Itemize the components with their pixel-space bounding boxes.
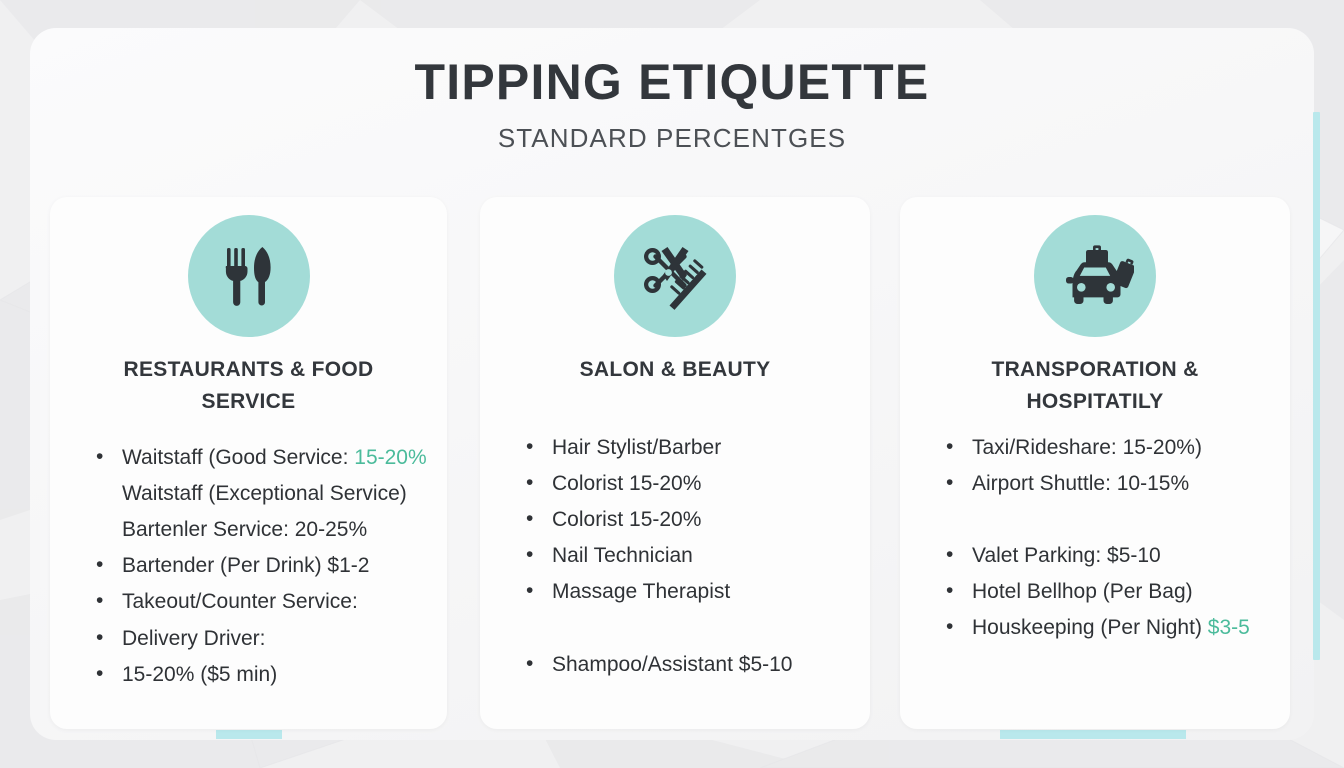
list-transportation: Taxi/Rideshare: 15-20%)Airport Shuttle: … [934, 430, 1330, 647]
list-item: Colorist 15-20% [514, 502, 910, 538]
list-item-label: Taxi/Rideshare: 15-20%) [972, 436, 1202, 459]
taxi-luggage-icon [1056, 240, 1134, 312]
icon-circle-restaurants [188, 215, 310, 337]
list-item: Hotel Bellhop (Per Bag) [934, 574, 1330, 610]
icon-circle-transportation [1034, 215, 1156, 337]
list-item-label: Colorist 15-20% [552, 472, 701, 495]
list-item: Colorist 15-20% [514, 466, 910, 502]
list-item: Waitstaff (Good Service: 15-20% [84, 440, 487, 476]
list-item-label: Waitstaff (Good Service: [122, 446, 354, 469]
list-item-label: Massage Therapist [552, 580, 730, 603]
list-item: Shampoo/Assistant $5-10 [514, 647, 910, 683]
list-item-label: Valet Parking: $5-10 [972, 544, 1161, 567]
card-restaurants-food-service[interactable]: RESTAURANTS & FOOD SERVICE Waitstaff (Go… [50, 197, 447, 729]
card-heading-salon: SALON & BEAUTY [506, 354, 844, 386]
accent-bar-under-card-3 [1000, 730, 1186, 739]
list-item-label: Delivery Driver: [122, 627, 266, 650]
list-item: Taxi/Rideshare: 15-20%) [934, 430, 1330, 466]
list-item-label: Nail Technician [552, 544, 693, 567]
list-salon: Hair Stylist/BarberColorist 15-20%Colori… [514, 430, 910, 683]
list-item-label: Bartender (Per Drink) $1-2 [122, 554, 369, 577]
list-item: Waitstaff (Exceptional Service) [84, 476, 487, 512]
page-title: TIPPING ETIQUETTE [0, 56, 1344, 109]
list-item: Takeout/Counter Service: [84, 584, 487, 620]
list-item-label: Hotel Bellhop (Per Bag) [972, 580, 1193, 603]
list-item: Nail Technician [514, 538, 910, 574]
list-item: 15-20% ($5 min) [84, 657, 487, 693]
list-item-label: Colorist 15-20% [552, 508, 701, 531]
card-heading-restaurants: RESTAURANTS & FOOD SERVICE [76, 354, 421, 417]
list-item-accent-value: $3-5 [1208, 616, 1250, 639]
list-item: Airport Shuttle: 10-15% [934, 466, 1330, 502]
list-item: Houskeeping (Per Night) $3-5 [934, 610, 1330, 646]
list-restaurants: Waitstaff (Good Service: 15-20%Waitstaff… [84, 440, 487, 693]
scissors-comb-icon [638, 239, 712, 313]
card-transportation-hospitality[interactable]: TRANSPORATION & HOSPITATILY Taxi/Ridesha… [900, 197, 1290, 729]
list-item: Bartender (Per Drink) $1-2 [84, 548, 487, 584]
list-item-label: Hair Stylist/Barber [552, 436, 721, 459]
fork-knife-icon [214, 241, 284, 311]
list-item: Delivery Driver: [84, 621, 487, 657]
cards-row: RESTAURANTS & FOOD SERVICE Waitstaff (Go… [0, 197, 1344, 729]
list-spacer [514, 611, 910, 647]
list-item: Massage Therapist [514, 574, 910, 610]
list-item-label: Takeout/Counter Service: [122, 590, 358, 613]
header: TIPPING ETIQUETTE STANDARD PERCENTGES [0, 56, 1344, 154]
list-item-label: Houskeeping (Per Night) [972, 616, 1208, 639]
list-item-label: Airport Shuttle: 10-15% [972, 472, 1189, 495]
list-item-label: Bartenler Service: 20-25% [122, 518, 367, 541]
list-item-accent-value: 15-20% [354, 446, 426, 469]
list-item: Hair Stylist/Barber [514, 430, 910, 466]
list-item-label: Shampoo/Assistant $5-10 [552, 653, 792, 676]
icon-circle-salon [614, 215, 736, 337]
card-heading-transportation: TRANSPORATION & HOSPITATILY [926, 354, 1264, 417]
accent-bar-under-card-1 [216, 730, 282, 739]
list-item-label: Waitstaff (Exceptional Service) [122, 482, 407, 505]
list-spacer [934, 502, 1330, 538]
list-item: Valet Parking: $5-10 [934, 538, 1330, 574]
list-item: Bartenler Service: 20-25% [84, 512, 487, 548]
page-subtitle: STANDARD PERCENTGES [0, 123, 1344, 154]
card-salon-beauty[interactable]: SALON & BEAUTY Hair Stylist/BarberColori… [480, 197, 870, 729]
list-item-label: 15-20% ($5 min) [122, 663, 277, 686]
